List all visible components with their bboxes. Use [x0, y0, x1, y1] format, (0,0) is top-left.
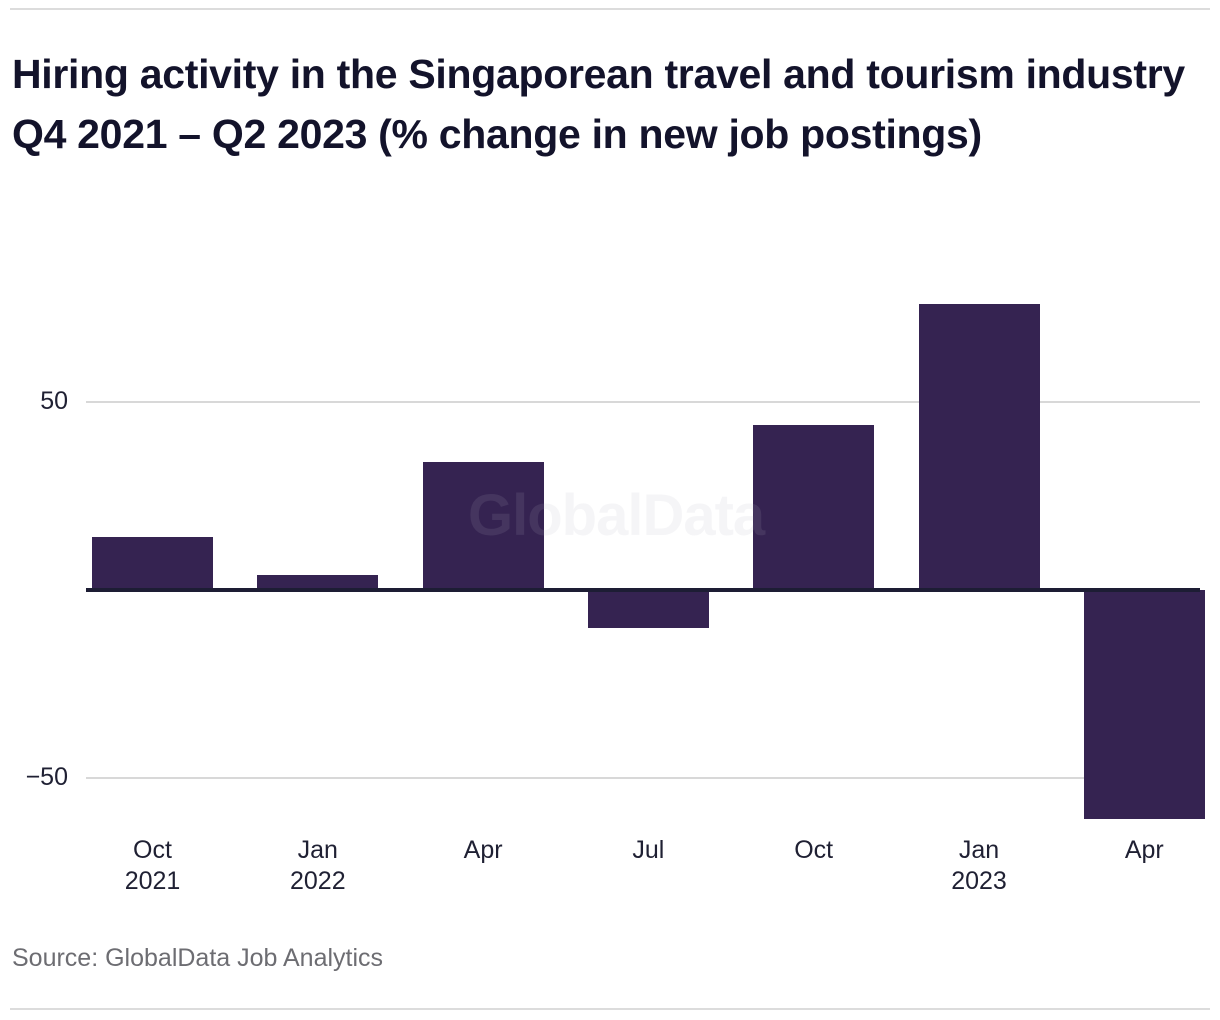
gridline--50	[86, 777, 1200, 779]
x-axis-tick-label: Oct	[734, 835, 894, 866]
x-tick-month: Oct	[73, 835, 233, 866]
x-tick-year: 2022	[238, 866, 398, 897]
x-axis-tick-label: Apr	[1064, 835, 1220, 866]
bar-apr[interactable]	[1084, 590, 1205, 819]
y-axis-tick-label: 50	[0, 389, 68, 414]
zero-axis-line	[86, 588, 1200, 592]
x-tick-year: 2021	[73, 866, 233, 897]
x-axis-tick-label: Jan2022	[238, 835, 398, 897]
x-tick-month: Jan	[899, 835, 1059, 866]
bar-chart-plot: 50−50Oct2021Jan2022AprJulOctJan2023Apr	[0, 0, 1220, 1020]
y-axis-tick-label: −50	[0, 765, 68, 790]
x-axis-tick-label: Jan2023	[899, 835, 1059, 897]
x-tick-month: Jul	[568, 835, 728, 866]
bar-oct-2021[interactable]	[92, 537, 213, 590]
bar-jan-2023[interactable]	[919, 304, 1040, 590]
bar-jul[interactable]	[588, 590, 709, 628]
chart-source-note: Source: GlobalData Job Analytics	[12, 944, 383, 973]
x-axis-tick-label: Apr	[403, 835, 563, 866]
x-axis-tick-label: Oct2021	[73, 835, 233, 897]
x-tick-year: 2023	[899, 866, 1059, 897]
bar-oct[interactable]	[753, 425, 874, 590]
x-axis-tick-label: Jul	[568, 835, 728, 866]
x-tick-month: Oct	[734, 835, 894, 866]
x-tick-month: Jan	[238, 835, 398, 866]
bar-apr[interactable]	[423, 462, 544, 590]
x-tick-month: Apr	[1064, 835, 1220, 866]
x-tick-month: Apr	[403, 835, 563, 866]
chart-page: Hiring activity in the Singaporean trave…	[0, 0, 1220, 1020]
